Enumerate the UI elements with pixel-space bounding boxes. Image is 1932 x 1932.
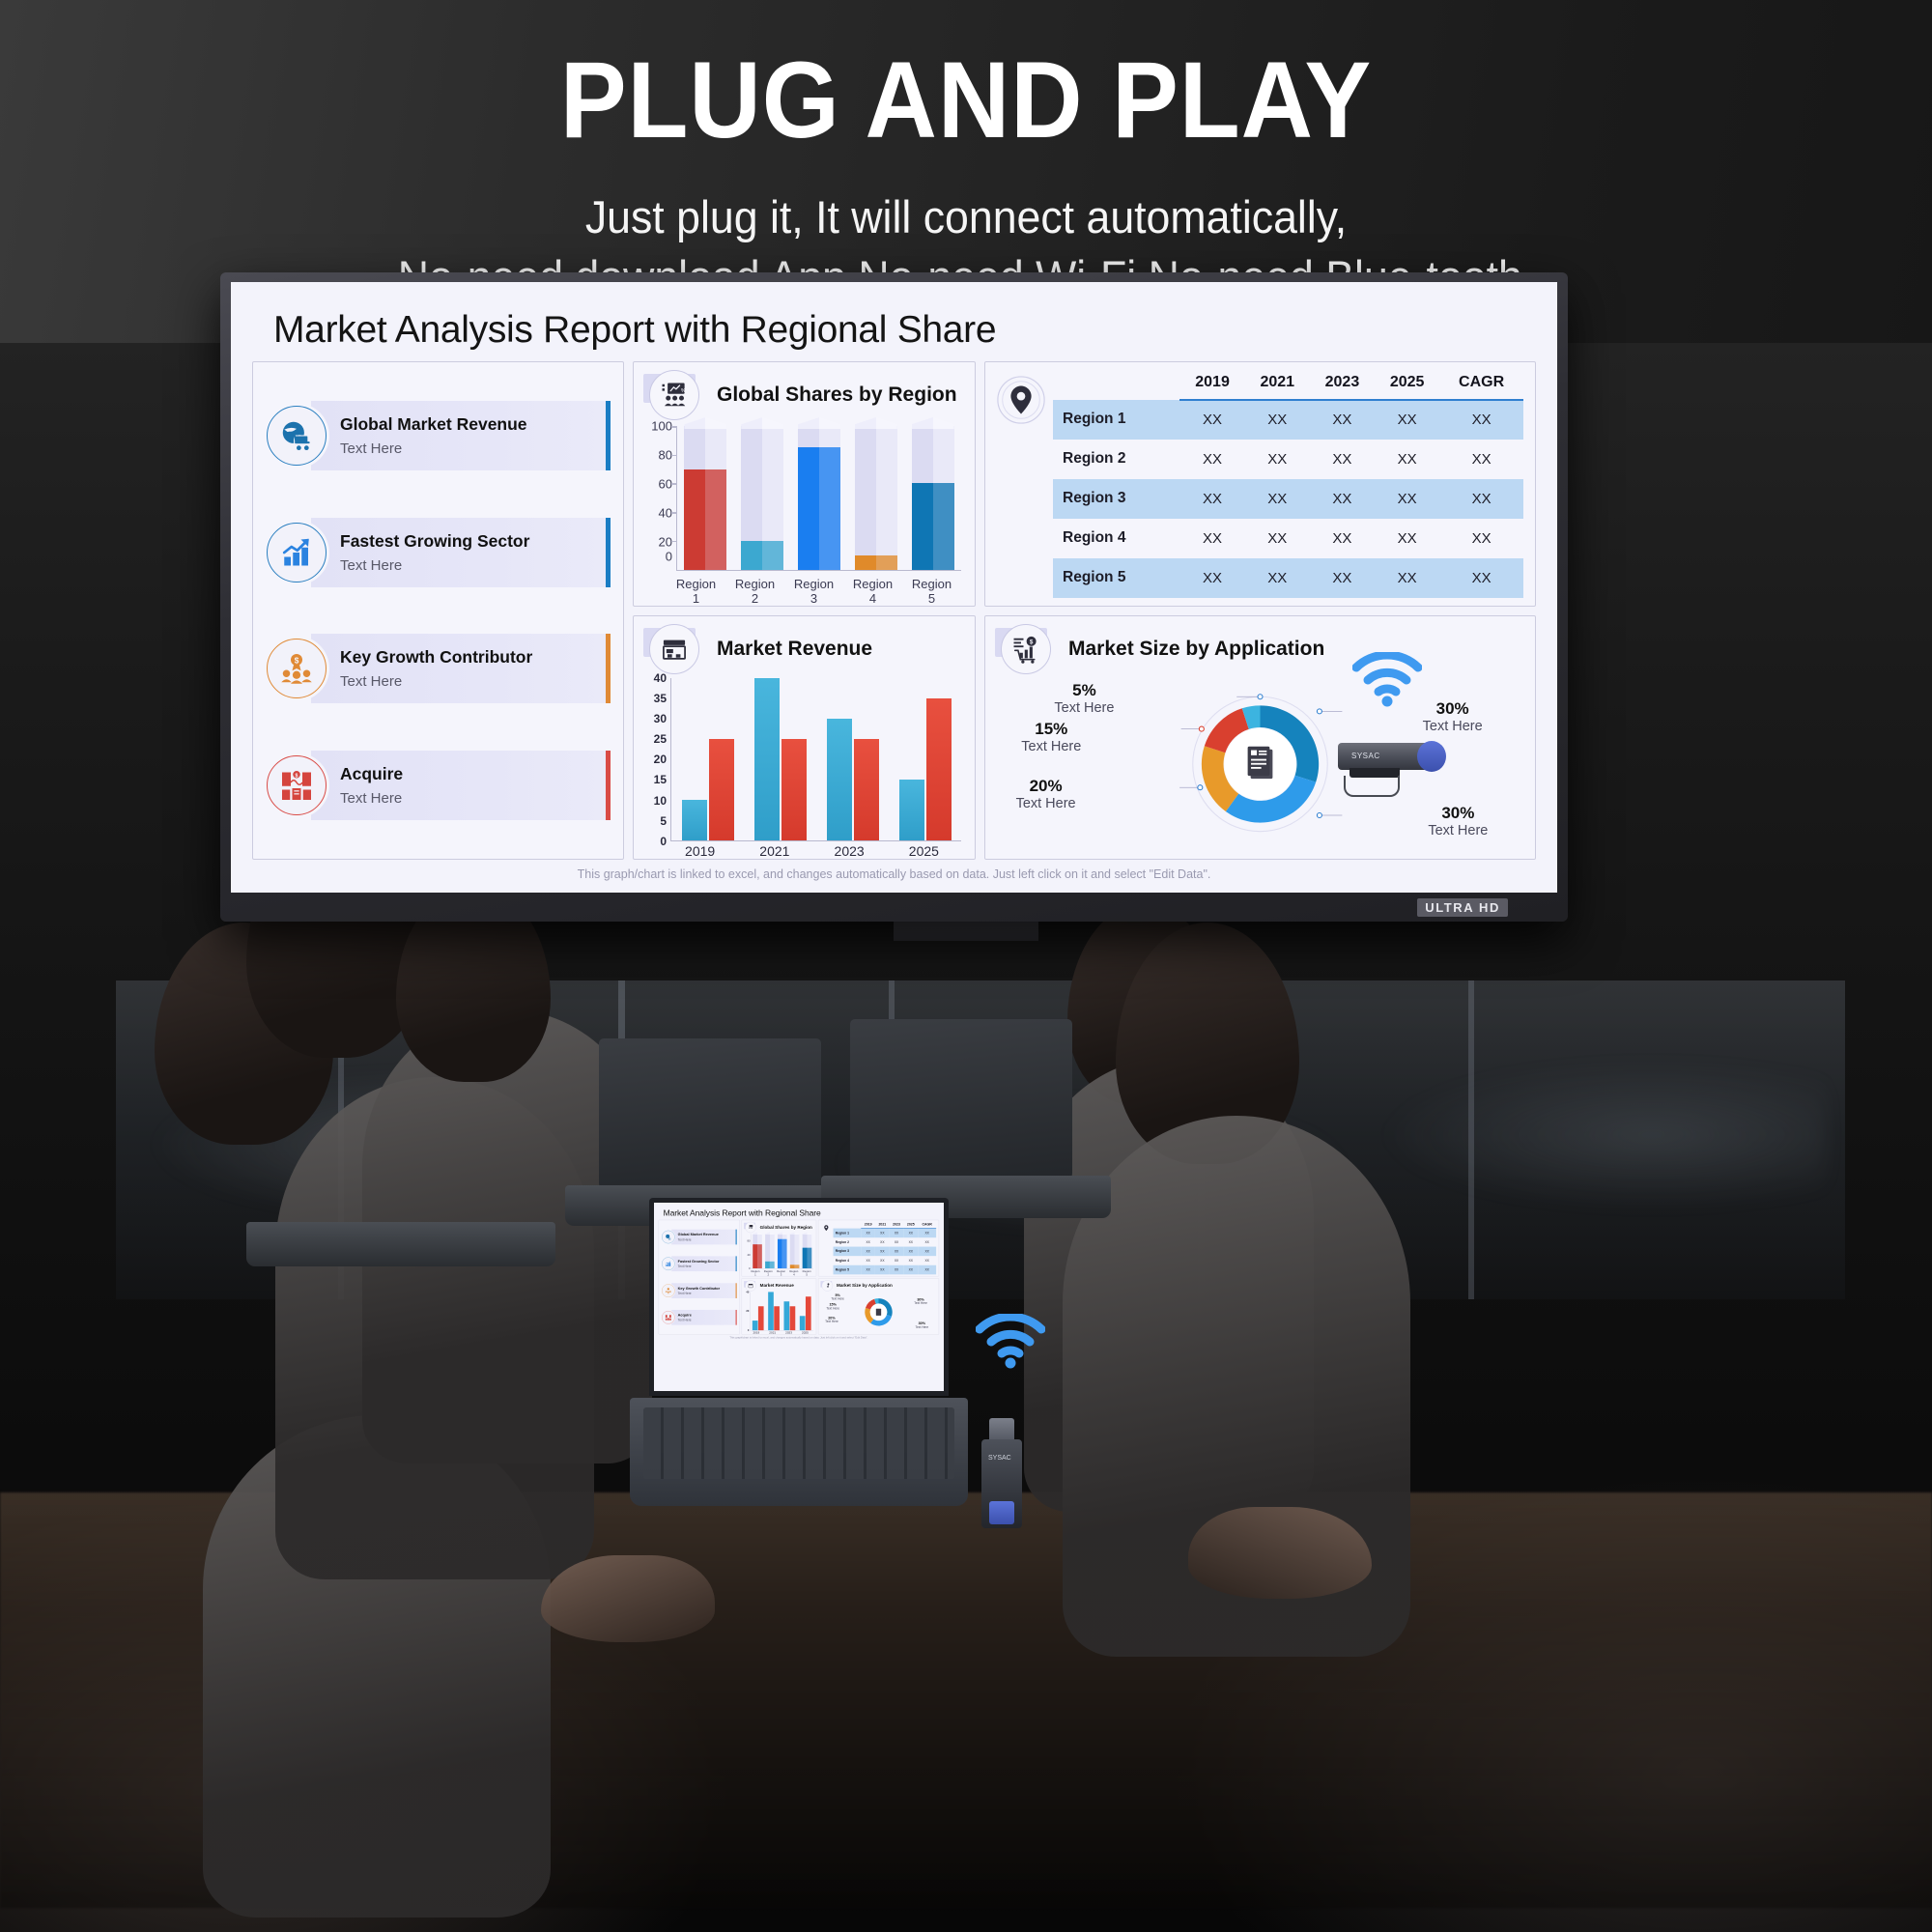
cart-chart-dollar-icon [822, 1280, 833, 1291]
mirrored-x-tick: Region 5 [802, 1269, 812, 1276]
table-cell: XX [1439, 400, 1523, 440]
highlight-card-title: Fastest Growing Sector [340, 531, 598, 552]
mirrored-card-sub: Text Here [678, 1238, 734, 1242]
global-shares-panel: % Global Shares by Region [633, 361, 976, 607]
mirrored-card: Fastest Growing Sector Text Here [662, 1256, 736, 1272]
column-header-2023: 2023 [1310, 368, 1375, 400]
mirrored-card-sub: Text Here [678, 1319, 734, 1322]
mirrored-cell: XX [890, 1256, 904, 1265]
x-tick: Region 5 [907, 577, 957, 606]
mirrored-cell: XX [918, 1256, 936, 1265]
market-revenue-panel: Market Revenue 0 5 10 15 20 25 [633, 615, 976, 861]
mirrored-footnote: This graph/chart is linked to excel, and… [659, 1334, 939, 1339]
mirrored-cell: XX [875, 1247, 890, 1257]
mirrored-row-label: Region 2 [834, 1237, 862, 1247]
shopping-cart-globe-icon [267, 406, 327, 466]
bar-region-1 [681, 426, 729, 570]
hand-right [1188, 1507, 1372, 1599]
row-label: Region 1 [1053, 400, 1179, 440]
bar-group-2019 [676, 678, 740, 841]
table-corner-cell [1053, 368, 1179, 400]
table-cell: XX [1310, 519, 1375, 558]
mirrored-donut-txt: Text Here [816, 1321, 847, 1323]
panel-title: Market Size by Application [1068, 638, 1324, 661]
highlight-card-key-growth-contributor[interactable]: $ Key Growth Contributor Te [267, 631, 610, 706]
table-cell: XX [1179, 519, 1244, 558]
highlight-card-title: Key Growth Contributor [340, 647, 598, 668]
highlight-card-subtitle: Text Here [340, 790, 598, 807]
foreground-laptop: Market Analysis Report with Regional Sha… [649, 1198, 949, 1396]
table-cell: XX [1310, 558, 1375, 598]
y-tick: 10 [654, 794, 667, 808]
storefront-icon [745, 1280, 755, 1291]
bar-series1 [682, 800, 707, 840]
table-cell: XX [1245, 400, 1310, 440]
global-shares-chart: 0 20 40 60 80 100 [634, 422, 975, 577]
svg-text:$: $ [1030, 639, 1034, 645]
table-cell: XX [1375, 400, 1439, 440]
row-label: Region 4 [1053, 519, 1179, 558]
table-cell: XX [1310, 479, 1375, 519]
shopping-cart-globe-icon [662, 1231, 675, 1244]
mirrored-cell: XX [861, 1256, 875, 1265]
y-tick: 30 [654, 712, 667, 725]
y-axis: 0 5 10 15 20 25 30 35 40 [641, 678, 670, 842]
table-row: Region 2 XX XX XX XX XX [1053, 440, 1523, 479]
table-cell: XX [1179, 440, 1244, 479]
mirrored-x-tick: Region 1 [750, 1269, 760, 1276]
mirrored-x-tick: 2019 [749, 1331, 763, 1334]
presentation-slide: Market Analysis Report with Regional Sha… [231, 282, 1557, 893]
donut-label-text: Text Here [1012, 700, 1155, 716]
table-cell: XX [1179, 400, 1244, 440]
table-header-row: 2019 2021 2023 2025 CAGR [1053, 368, 1523, 400]
y-tick: 15 [654, 773, 667, 786]
dongle-cable [1344, 776, 1400, 797]
donut-label-percent: 5% [1012, 681, 1155, 700]
table-row: Region 3 XX XX XX XX XX [1053, 479, 1523, 519]
table-cell: XX [1245, 558, 1310, 598]
donut-label-5: 5% Text Here [1012, 681, 1155, 716]
mirrored-cell: XX [890, 1247, 904, 1257]
highlight-card-global-market-revenue[interactable]: Global Market Revenue Text Here [267, 398, 610, 473]
mirrored-row-label: Region 1 [834, 1229, 862, 1238]
column-header-2021: 2021 [1245, 368, 1310, 400]
hand-left [541, 1555, 715, 1642]
plot-area [670, 678, 961, 842]
mirrored-x-tick: 2021 [765, 1331, 780, 1334]
mirrored-cell: XX [918, 1247, 936, 1257]
mirrored-col-head: 2025 [903, 1221, 918, 1228]
dongle-indicator [989, 1501, 1014, 1524]
mirrored-x-tick: Region 3 [776, 1269, 786, 1276]
y-axis: 0 20 40 60 80 100 [643, 426, 676, 571]
growth-bar-arrow-icon [662, 1258, 675, 1271]
presentation-people-icon: % [649, 370, 699, 420]
growth-bar-arrow-icon [267, 523, 327, 582]
highlight-card-subtitle: Text Here [340, 557, 598, 574]
x-tick: 2021 [742, 843, 808, 859]
people-award-icon: $ [267, 639, 327, 698]
buildings-merger-icon: $ [267, 755, 327, 815]
people-award-icon [662, 1284, 675, 1297]
mirrored-cell: XX [861, 1237, 875, 1247]
dongle-tip [1417, 741, 1446, 772]
bar-series2 [854, 739, 879, 840]
column-header-2019: 2019 [1179, 368, 1244, 400]
page-title: PLUG AND PLAY [77, 46, 1855, 155]
donut-label-percent: 20% [975, 777, 1118, 796]
x-tick: Region 4 [848, 577, 898, 606]
mirrored-card: Global Market Revenue Text Here [662, 1229, 736, 1245]
market-size-panel: $ Market Size by Application [984, 615, 1536, 861]
mirrored-cell: XX [861, 1265, 875, 1275]
tv-stand [894, 920, 1038, 941]
mirrored-donut-txt: Text Here [822, 1297, 853, 1300]
x-tick: 2025 [891, 843, 956, 859]
y-tick: 25 [654, 732, 667, 746]
bar-series2 [709, 739, 734, 840]
table-cell: XX [1310, 440, 1375, 479]
mirrored-row-label: Region 3 [834, 1247, 862, 1257]
usb-dongle-device: SYSAC [976, 1418, 1034, 1534]
dongle-brand-label: SYSAC [988, 1455, 1011, 1462]
dongle-brand-label: SYSAC [1351, 752, 1380, 760]
mirrored-panel-title: Market Size by Application [837, 1283, 893, 1288]
donut-label-text: Text Here [1386, 823, 1529, 838]
slide-title: Market Analysis Report with Regional Sha… [252, 301, 1536, 355]
donut-label-percent: 15% [980, 720, 1122, 739]
ultra-hd-badge: ULTRA HD [1417, 898, 1508, 917]
column-header-cagr: CAGR [1439, 368, 1523, 400]
mirrored-card: Acquire Text Here [662, 1309, 736, 1325]
mirrored-card-title: Global Market Revenue [678, 1233, 734, 1237]
mirrored-cell: XX [903, 1229, 918, 1238]
mirrored-col-head: 2019 [861, 1221, 875, 1228]
dongle-connector [989, 1418, 1014, 1441]
svg-text:$: $ [296, 773, 298, 779]
table-cell: XX [1245, 440, 1310, 479]
bar-group-2025 [894, 678, 957, 841]
laptop-screen [850, 1019, 1072, 1179]
table-cell: XX [1439, 558, 1523, 598]
highlight-card-body: Key Growth Contributor Text Here [311, 634, 610, 703]
wifi-icon-tv [1352, 652, 1422, 708]
x-tick: Region 3 [789, 577, 839, 606]
y-tick: 60 [659, 476, 672, 491]
mirrored-panel-title: Global Shares by Region [760, 1225, 812, 1230]
mirrored-cell: XX [903, 1256, 918, 1265]
table-row: Region 5 XX XX XX XX XX [1053, 558, 1523, 598]
wifi-icon-laptop [976, 1314, 1045, 1370]
mirrored-cell: XX [890, 1229, 904, 1238]
location-pin-icon [989, 368, 1053, 598]
laptop-keyboard [643, 1407, 954, 1479]
column-header-2025: 2025 [1375, 368, 1439, 400]
y-tick: 0 [660, 835, 667, 848]
highlight-card-subtitle: Text Here [340, 673, 598, 690]
x-tick: 2019 [668, 843, 733, 859]
bar-region-4 [852, 426, 900, 570]
mirrored-card-sub: Text Here [678, 1264, 734, 1268]
highlight-card-body: Fastest Growing Sector Text Here [311, 518, 610, 587]
bar-series1 [754, 678, 780, 841]
highlight-card-subtitle: Text Here [340, 440, 598, 457]
table-row: Region 4 XX XX XX XX XX [1053, 519, 1523, 558]
mirrored-card-title: Key Growth Contributor [678, 1286, 734, 1291]
y-tick: 0 [666, 549, 672, 563]
panel-title: Global Shares by Region [717, 384, 957, 407]
table-cell: XX [1245, 479, 1310, 519]
mirrored-cell: XX [903, 1247, 918, 1257]
row-label: Region 3 [1053, 479, 1179, 519]
table-cell: XX [1375, 558, 1439, 598]
row-label: Region 5 [1053, 558, 1179, 598]
mirrored-col-head: 2023 [890, 1221, 904, 1228]
table-cell: XX [1375, 440, 1439, 479]
donut-label-20: 20% Text Here [975, 777, 1118, 811]
table-cell: XX [1439, 479, 1523, 519]
x-tick: Region 2 [730, 577, 781, 606]
y-tick: 35 [654, 692, 667, 705]
donut-label-30-bottom: 30% Text Here [1386, 804, 1529, 838]
x-axis-labels: 2019 2021 2023 2025 [634, 843, 975, 859]
mirrored-donut-txt: Text Here [817, 1307, 848, 1310]
mirrored-cell: XX [875, 1256, 890, 1265]
bar-series1 [899, 780, 924, 840]
mirrored-cell: XX [861, 1229, 875, 1238]
mirrored-cell: XX [875, 1265, 890, 1275]
mirrored-x-tick: Region 4 [788, 1269, 799, 1276]
regional-table-panel: 2019 2021 2023 2025 CAGR [984, 361, 1536, 607]
mirrored-panel-title: Market Revenue [760, 1283, 794, 1288]
table-cell: XX [1439, 519, 1523, 558]
mirrored-cell: XX [875, 1229, 890, 1238]
bar-series2 [781, 739, 807, 840]
x-axis-labels: Region 1 Region 2 Region 3 Region 4 Regi… [634, 577, 975, 606]
highlights-panel: Global Market Revenue Text Here [252, 361, 624, 860]
mirrored-cell: XX [861, 1247, 875, 1257]
cart-chart-dollar-icon: $ [1001, 624, 1051, 674]
row-label: Region 2 [1053, 440, 1179, 479]
table-cell: XX [1439, 440, 1523, 479]
donut-label-text: Text Here [1381, 719, 1524, 734]
mirrored-x-tick: 2023 [781, 1331, 796, 1334]
svg-text:%: % [681, 388, 686, 394]
y-tick: 5 [660, 814, 667, 828]
bar-region-5 [909, 426, 957, 570]
table-cell: XX [1375, 519, 1439, 558]
highlight-card-body: Global Market Revenue Text Here [311, 401, 610, 470]
table-cell: XX [1310, 400, 1375, 440]
panel-title: Market Revenue [717, 638, 872, 661]
mirrored-col-head: CAGR [918, 1221, 936, 1228]
highlight-card-title: Global Market Revenue [340, 414, 598, 435]
mirrored-donut-txt: Text Here [905, 1301, 936, 1304]
mirrored-cell: XX [890, 1237, 904, 1247]
highlight-card-acquire[interactable]: $ A [267, 748, 610, 823]
table-cell: XX [1245, 519, 1310, 558]
donut-label-text: Text Here [975, 796, 1118, 811]
mirrored-cell: XX [903, 1265, 918, 1275]
x-tick: Region 1 [671, 577, 722, 606]
hdmi-transmitter-device: SYSAC [1338, 739, 1454, 780]
y-tick: 40 [659, 505, 672, 520]
mirrored-row-label: Region 4 [834, 1256, 862, 1265]
bar-group-2021 [749, 678, 812, 841]
x-tick: 2023 [816, 843, 882, 859]
mirrored-x-tick: Region 2 [763, 1269, 774, 1276]
highlight-card-fastest-growing-sector[interactable]: Fastest Growing Sector Text Here [267, 515, 610, 590]
mirrored-cell: XX [890, 1265, 904, 1275]
plot-area [676, 426, 961, 571]
highlight-card-body: Acquire Text Here [311, 751, 610, 820]
mirrored-card-title: Fastest Growing Sector [678, 1259, 734, 1264]
y-tick: 20 [659, 534, 672, 549]
storefront-icon [649, 624, 699, 674]
mirrored-col-head: 2021 [875, 1221, 890, 1228]
bar-group-2023 [821, 678, 885, 841]
table-cell: XX [1375, 479, 1439, 519]
location-pin-icon [819, 1221, 833, 1274]
donut-label-15: 15% Text Here [980, 720, 1122, 754]
mirrored-row-label: Region 5 [834, 1265, 862, 1275]
table-cell: XX [1179, 479, 1244, 519]
mirrored-cell: XX [918, 1237, 936, 1247]
table-row: Region 1 XX XX XX XX XX [1053, 400, 1523, 440]
donut-label-percent: 30% [1386, 804, 1529, 823]
buildings-merger-icon [662, 1311, 675, 1324]
laptop-screen [599, 1038, 821, 1188]
bar-region-2 [738, 426, 786, 570]
mirrored-card: Key Growth Contributor Text Here [662, 1283, 736, 1299]
mirrored-card-sub: Text Here [678, 1292, 734, 1295]
tv-screen: Market Analysis Report with Regional Sha… [231, 282, 1557, 893]
television: Market Analysis Report with Regional Sha… [220, 272, 1568, 922]
mirrored-donut-txt: Text Here [906, 1325, 937, 1328]
foreground-laptop-base [630, 1398, 968, 1506]
mirrored-slide-title: Market Analysis Report with Regional Sha… [659, 1207, 939, 1218]
y-tick: 80 [659, 447, 672, 462]
y-tick: 100 [651, 419, 672, 434]
market-revenue-chart: 0 5 10 15 20 25 30 35 40 [634, 676, 975, 844]
highlight-card-title: Acquire [340, 764, 598, 784]
mirrored-cell: XX [903, 1237, 918, 1247]
bar-series1 [827, 719, 852, 840]
y-tick: 40 [654, 671, 667, 685]
table-cell: XX [1179, 558, 1244, 598]
presentation-people-icon [745, 1222, 755, 1233]
mirrored-cell: XX [918, 1229, 936, 1238]
mirrored-cell: XX [875, 1237, 890, 1247]
laptop-screen-mirrored-slide: Market Analysis Report with Regional Sha… [654, 1203, 944, 1391]
slide-footnote: This graph/chart is linked to excel, and… [252, 860, 1536, 883]
bar-series2 [926, 698, 952, 840]
mirrored-x-tick: 2025 [798, 1331, 812, 1334]
donut-label-text: Text Here [980, 739, 1122, 754]
bar-region-3 [795, 426, 843, 570]
svg-text:$: $ [295, 657, 299, 666]
regional-data-table: 2019 2021 2023 2025 CAGR [1053, 368, 1523, 598]
mirrored-card-title: Acquire [678, 1313, 734, 1318]
mirrored-cell: XX [918, 1265, 936, 1275]
laptop-keyboard [246, 1222, 555, 1266]
banner-subtitle-line1: Just plug it, It will connect automatica… [48, 187, 1884, 247]
y-tick: 20 [654, 753, 667, 766]
